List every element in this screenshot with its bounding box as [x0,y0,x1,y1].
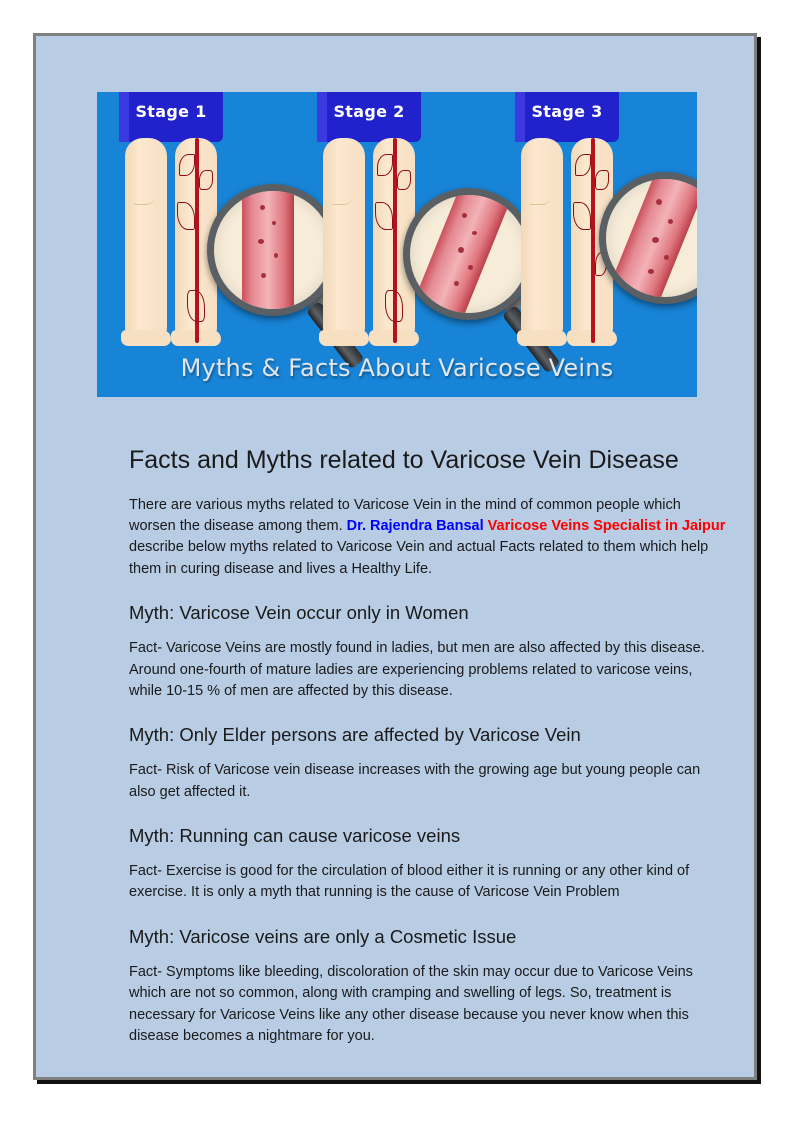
intro-paragraph: There are various myths related to Varic… [129,495,729,580]
fact-paragraph-1: Fact- Varicose Veins are mostly found in… [129,638,729,702]
vein-branch-icon [199,170,213,190]
myth-heading-2: Myth: Only Elder persons are affected by… [129,724,729,746]
leg-left-icon [521,138,563,338]
stage-label-2: Stage 2 [317,102,421,121]
myth-heading-3: Myth: Running can cause varicose veins [129,825,729,847]
specialist-highlight: Varicose Veins Specialist in Jaipur [488,518,726,534]
clot-dot [652,237,659,243]
myth-section-4: Myth: Varicose veins are only a Cosmetic… [129,926,729,1047]
knee-crease-icon [529,196,551,205]
document-page: Stage 1 [33,33,757,1080]
vein-branch-icon [187,290,205,322]
clot-dot [258,239,264,244]
clot-dot [468,265,473,270]
clot-dot [261,273,266,278]
myth-section-3: Myth: Running can cause varicose veins F… [129,825,729,904]
myth-section-2: Myth: Only Elder persons are affected by… [129,724,729,803]
clot-dot [656,199,662,205]
stage-label-1: Stage 1 [119,102,223,121]
clot-dot [648,269,654,274]
doctor-name-highlight: Dr. Rajendra Bansal [347,518,484,534]
leg-left-icon [323,138,365,338]
magnifier-lens [599,172,697,304]
myth-heading-1: Myth: Varicose Vein occur only in Women [129,602,729,624]
foot-icon [121,330,171,346]
vein-main-icon [591,138,595,343]
clot-dot [260,205,265,210]
stage-panel-3: Stage 3 [495,92,695,350]
fact-paragraph-3: Fact- Exercise is good for the circulati… [129,861,729,904]
knee-crease-icon [133,196,155,205]
page-title: Facts and Myths related to Varicose Vein… [129,446,729,475]
myth-section-1: Myth: Varicose Vein occur only in Women … [129,602,729,702]
stage-panel-1: Stage 1 [99,92,299,350]
clot-dot [472,231,477,235]
banner-image: Stage 1 [97,92,697,397]
clot-dot [274,253,278,258]
foot-icon [319,330,369,346]
vein-branch-icon [385,290,403,322]
myth-heading-4: Myth: Varicose veins are only a Cosmetic… [129,926,729,948]
clot-dot [462,213,467,218]
stage-panel-2: Stage 2 [297,92,497,350]
article-content: Facts and Myths related to Varicose Vein… [129,446,729,1069]
leg-left-icon [125,138,167,338]
fact-paragraph-2: Fact- Risk of Varicose vein disease incr… [129,760,729,803]
banner-caption: Myths & Facts About Varicose Veins [97,354,697,382]
fact-paragraph-4: Fact- Symptoms like bleeding, discolorat… [129,962,729,1047]
clot-dot [454,281,459,286]
clot-dot [458,247,464,253]
knee-crease-icon [331,196,353,205]
intro-text-part2: describe below myths related to Varicose… [129,539,708,576]
clot-dot [272,221,276,225]
vein-branch-icon [595,170,609,190]
stage-label-3: Stage 3 [515,102,619,121]
clot-dot [664,255,669,260]
vein-closeup-graphic [600,172,697,304]
vein-branch-icon [397,170,411,190]
clot-dot [668,219,673,224]
vein-closeup-graphic [242,184,294,316]
foot-icon [517,330,567,346]
